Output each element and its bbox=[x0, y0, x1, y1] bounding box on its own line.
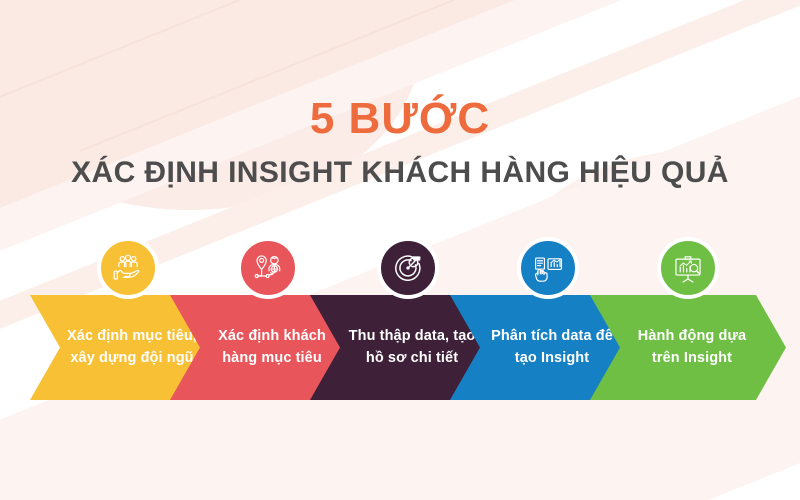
infographic-canvas: 5 BƯỚC XÁC ĐỊNH INSIGHT KHÁCH HÀNG HIỆU … bbox=[0, 0, 800, 500]
hand-holding-people-icon bbox=[97, 237, 159, 299]
steps-row: Xác định mục tiêu, xây dựng đội ngũ Xác bbox=[0, 0, 800, 500]
step-5[interactable]: Hành động dựa trên Insight bbox=[590, 0, 786, 500]
heading-block: 5 BƯỚC XÁC ĐỊNH INSIGHT KHÁCH HÀNG HIỆU … bbox=[0, 96, 800, 189]
target-dart-icon bbox=[377, 237, 439, 299]
step-5-label: Hành động dựa trên Insight bbox=[590, 295, 786, 400]
presentation-chart-magnifier-icon bbox=[657, 237, 719, 299]
page-title: 5 BƯỚC bbox=[0, 96, 800, 142]
page-subtitle: XÁC ĐỊNH INSIGHT KHÁCH HÀNG HIỆU QUẢ bbox=[0, 156, 800, 189]
hand-chart-analysis-icon bbox=[517, 237, 579, 299]
map-pin-target-customer-icon bbox=[237, 237, 299, 299]
